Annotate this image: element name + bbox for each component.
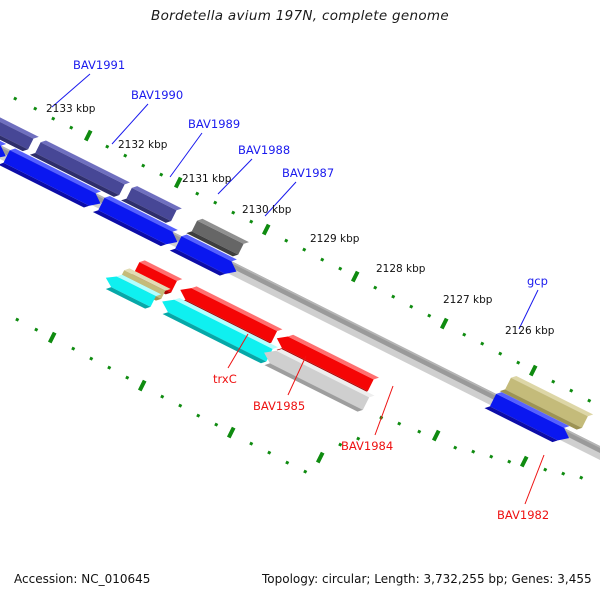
scale-label-2126: 2126 kbp — [505, 326, 554, 337]
gene-label-bav1989[interactable]: BAV1989 — [188, 119, 240, 131]
gene-row-forward-upper — [0, 82, 600, 504]
gene-label-bav1985[interactable]: BAV1985 — [253, 401, 305, 413]
gene-label-trxc[interactable]: trxC — [213, 374, 237, 386]
gene-block-bav1991[interactable] — [0, 100, 39, 155]
scale-label-2132: 2132 kbp — [118, 140, 167, 151]
scale-label-2127: 2127 kbp — [443, 295, 492, 306]
scale-label-2128: 2128 kbp — [376, 264, 425, 275]
gene-label-bav1991[interactable]: BAV1991 — [73, 60, 125, 72]
status-bar: Accession: NC_010645 Topology: circular;… — [0, 572, 600, 594]
gene-label-bav1990[interactable]: BAV1990 — [131, 90, 183, 102]
scale-label-2133: 2133 kbp — [46, 104, 95, 115]
accession-text: Accession: NC_010645 — [14, 572, 150, 586]
gene-label-bav1988[interactable]: BAV1988 — [238, 145, 290, 157]
topology-text: Topology: circular; Length: 3,732,255 bp… — [262, 572, 592, 586]
gene-label-bav1987[interactable]: BAV1987 — [282, 168, 334, 180]
scale-label-2130: 2130 kbp — [242, 205, 291, 216]
scale-label-2131: 2131 kbp — [182, 174, 231, 185]
genome-map-viewer: Bordetella avium 197N, complete genome — [0, 0, 600, 600]
scale-label-2129: 2129 kbp — [310, 234, 359, 245]
gene-label-gcp[interactable]: gcp — [527, 276, 548, 288]
gene-label-bav1982[interactable]: BAV1982 — [497, 510, 549, 522]
gene-label-bav1984[interactable]: BAV1984 — [341, 441, 393, 453]
